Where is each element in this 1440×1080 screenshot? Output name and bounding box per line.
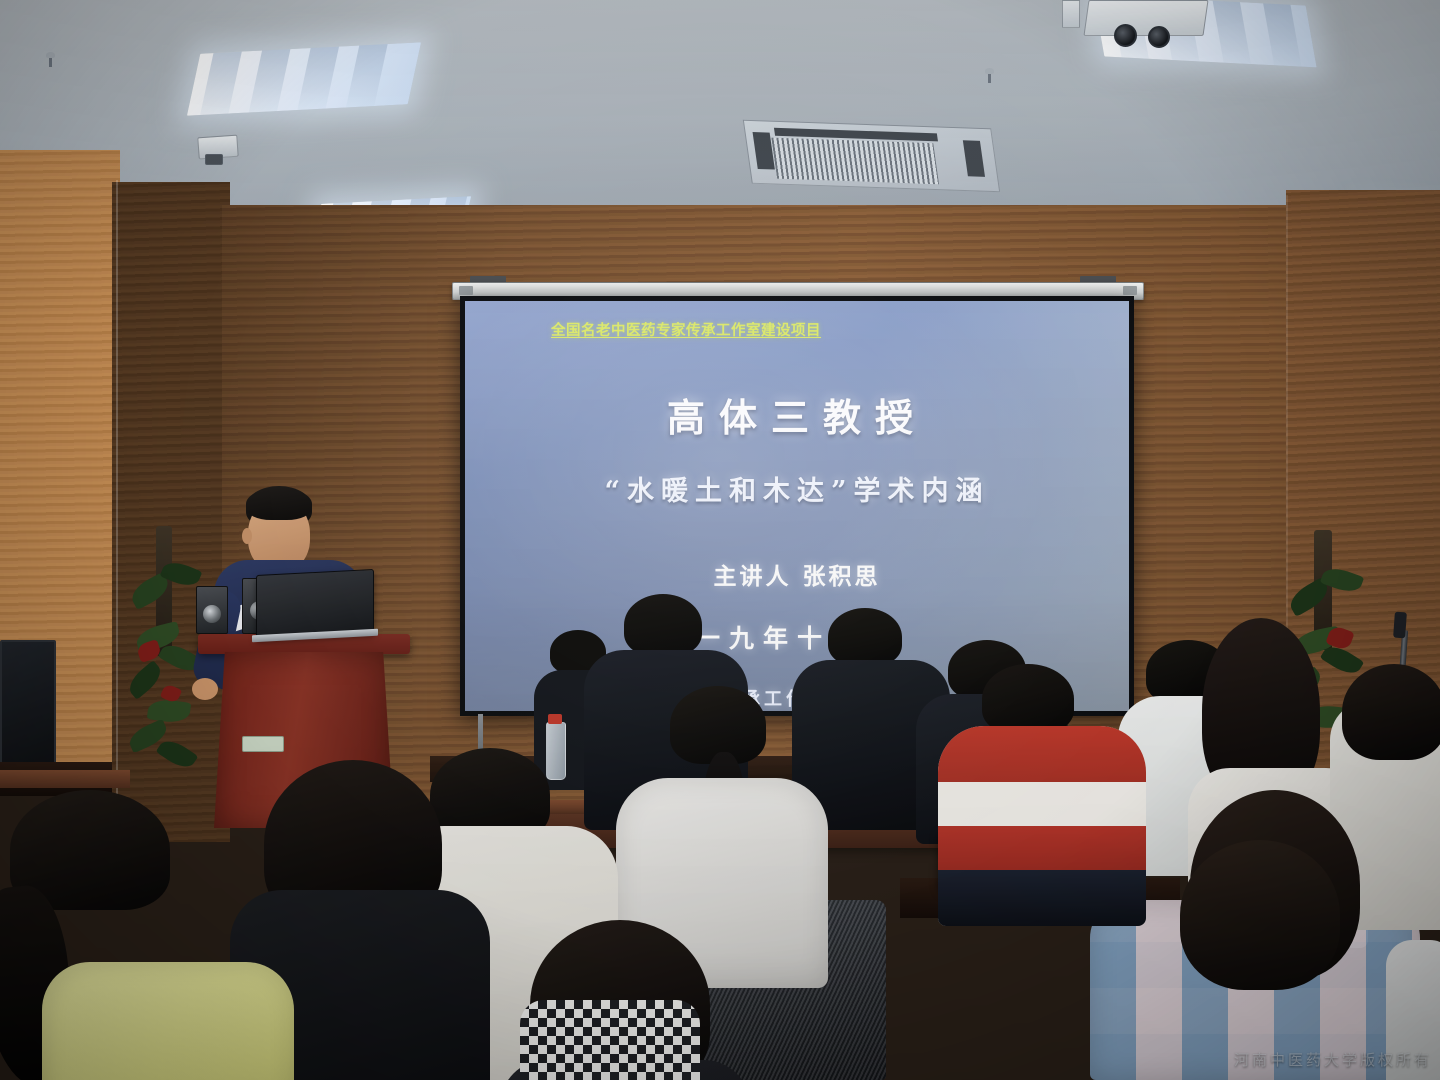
projector-mount bbox=[1062, 0, 1080, 28]
hair bbox=[624, 594, 702, 656]
gooseneck-microphone-head bbox=[1393, 612, 1407, 639]
sprinkler-3 bbox=[985, 68, 994, 84]
slide-banner-text: 全国名老中医药专家传承工作室建设项目 bbox=[551, 319, 821, 340]
water-bottle bbox=[546, 722, 566, 780]
audience-person-mid-5-hair bbox=[1342, 664, 1440, 760]
ceiling-air-diffuser bbox=[743, 120, 1000, 193]
watermark: 河南中医药大学版权所有 bbox=[1234, 1049, 1432, 1070]
desktop-speaker-left bbox=[196, 586, 228, 634]
audience-person-front-5-garment bbox=[520, 1000, 700, 1080]
ceiling-projector bbox=[1083, 0, 1208, 36]
desk-row-front-edge bbox=[0, 770, 130, 788]
presenter-hand bbox=[192, 678, 218, 700]
podium-nameplate bbox=[242, 736, 284, 752]
lecture-hall-photo: 全国名老中医药专家传承工作室建设项目 高体三教授 “水暖土和木达”学术内涵 主讲… bbox=[0, 0, 1440, 1080]
slide-title-text: 高体三教授 bbox=[465, 387, 1129, 442]
torso bbox=[42, 962, 294, 1080]
presenter-hair-top bbox=[246, 488, 312, 520]
security-camera-lens bbox=[205, 154, 223, 165]
hair bbox=[828, 608, 902, 666]
wall-corner-highlight bbox=[116, 180, 118, 840]
presenter-ear bbox=[242, 528, 252, 544]
slide-subtitle-text: “水暖土和木达”学术内涵 bbox=[465, 469, 1129, 508]
projector-lens bbox=[1114, 24, 1137, 47]
water-bottle-cap bbox=[548, 714, 562, 724]
torso bbox=[938, 726, 1146, 926]
hair bbox=[982, 664, 1074, 734]
audience-person-front-6-hair-overlay bbox=[1180, 840, 1340, 990]
sprinkler-1 bbox=[46, 52, 55, 68]
slide-speaker-text: 主讲人 张积思 bbox=[465, 557, 1129, 591]
projector-lens-2 bbox=[1148, 26, 1170, 48]
ceiling-panel-light-1 bbox=[187, 42, 421, 115]
